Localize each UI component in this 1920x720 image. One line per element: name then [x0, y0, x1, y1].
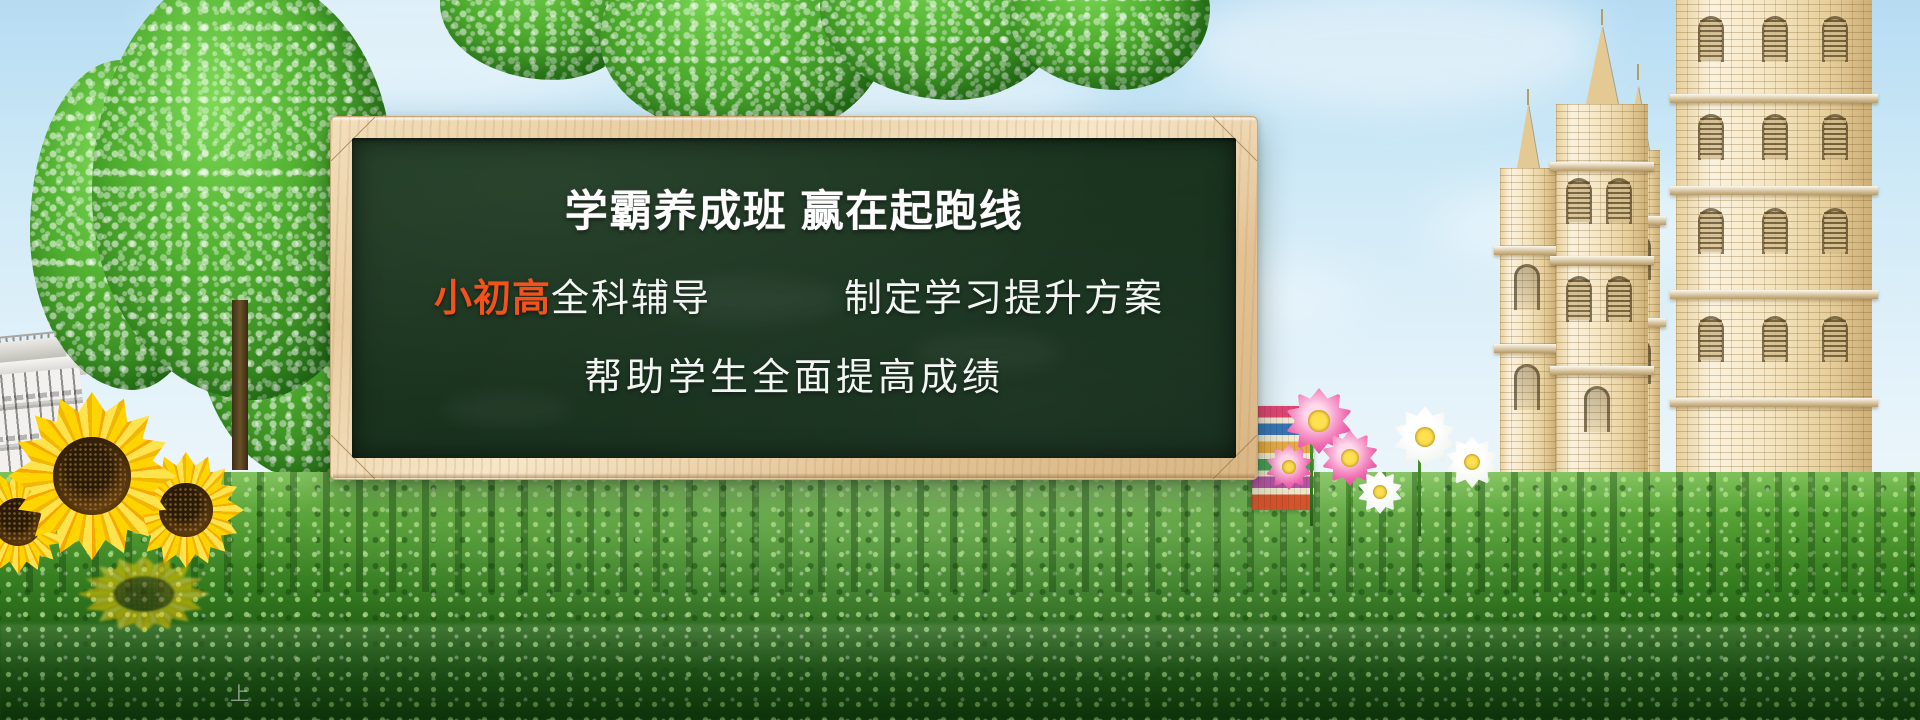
improve-grades-label: 帮助学生全面提高成绩 — [584, 357, 1004, 399]
tower-spire — [1556, 26, 1648, 104]
gothic-tower-icon — [1556, 104, 1648, 524]
gothic-cathedral-tower-icon — [1676, 0, 1872, 510]
education-promo-banner: 学霸养成班 赢在起跑线 小初高全科辅导 制定学习提升方案 帮助学生全面提高成绩 … — [0, 0, 1920, 720]
flower-center — [1373, 485, 1387, 499]
chalkboard-surface: 学霸养成班 赢在起跑线 小初高全科辅导 制定学习提升方案 帮助学生全面提高成绩 — [352, 138, 1236, 458]
flower-center — [1341, 449, 1359, 467]
sunflower-icon — [8, 392, 176, 560]
sunflower-disc — [53, 437, 130, 514]
daisy-flower-icon — [1358, 470, 1402, 514]
banner-headline: 学霸养成班 赢在起跑线 — [386, 189, 1202, 236]
study-plan-label: 制定学习提升方案 — [844, 267, 1164, 322]
sunflower-disc — [114, 576, 175, 611]
flower-center — [1308, 410, 1329, 431]
frame-shadow — [333, 473, 1255, 478]
banner-subline-row: 小初高全科辅导 制定学习提升方案 — [386, 267, 1202, 322]
green-tree-icon — [1010, 0, 1210, 90]
banner-tagline-row: 帮助学生全面提高成绩 — [386, 346, 1202, 401]
banner-subline-left: 小初高全科辅导 — [434, 267, 711, 322]
reflection-overlay — [0, 624, 1920, 720]
chalkboard: 学霸养成班 赢在起跑线 小初高全科辅导 制定学习提升方案 帮助学生全面提高成绩 — [330, 116, 1258, 480]
tower-spire — [1500, 104, 1556, 168]
cloud-decoration — [1180, 0, 1600, 110]
grade-levels-accent: 小初高 — [434, 278, 551, 320]
cosmos-flower-icon — [1266, 444, 1312, 490]
tree-foliage — [1010, 0, 1210, 90]
photo-watermark: 上 — [230, 679, 251, 706]
flower-center — [1415, 427, 1435, 447]
chalkboard-content: 学霸养成班 赢在起跑线 小初高全科辅导 制定学习提升方案 帮助学生全面提高成绩 — [352, 138, 1236, 458]
tree-trunk — [232, 300, 248, 470]
all-subjects-tutoring-label: 全科辅导 — [551, 278, 711, 320]
tower-masonry — [1676, 0, 1872, 510]
frame-highlight — [333, 118, 1255, 121]
daisy-flower-icon — [1446, 436, 1498, 488]
